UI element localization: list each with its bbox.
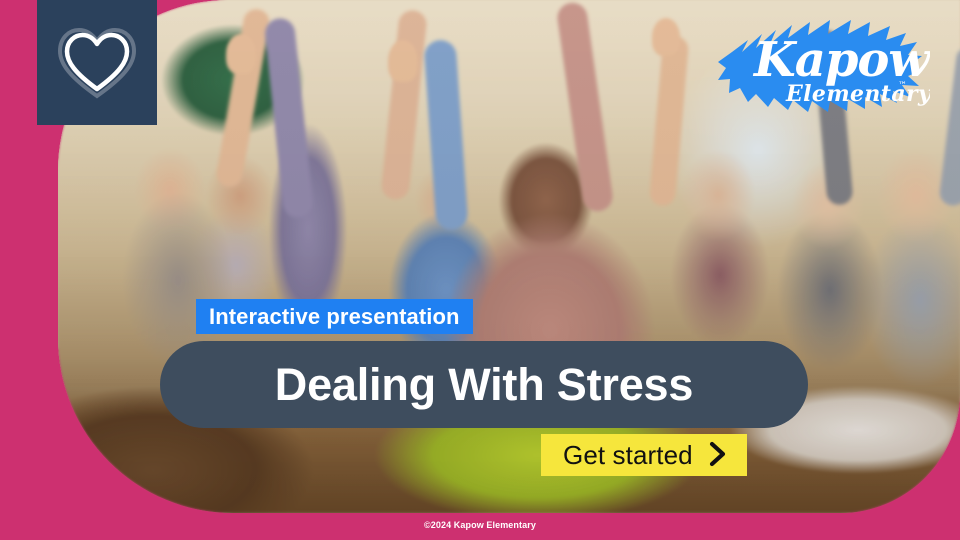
heart-icon	[54, 23, 140, 103]
svg-text:Kapow: Kapow	[752, 32, 930, 88]
get-started-button[interactable]: Get started	[541, 434, 747, 476]
kapow-elementary-logo: Kapow Elementary ™	[718, 8, 930, 126]
page-title: Dealing With Stress	[275, 362, 693, 407]
svg-text:Elementary: Elementary	[785, 81, 930, 107]
heart-badge	[37, 0, 157, 125]
footer: ©2024 Kapow Elementary	[0, 515, 960, 533]
copyright-text: ©2024 Kapow Elementary	[424, 520, 536, 530]
svg-text:™: ™	[898, 81, 907, 91]
get-started-label: Get started	[563, 442, 693, 468]
eyebrow-label: Interactive presentation	[209, 306, 460, 328]
chevron-right-icon	[707, 441, 729, 470]
title-pill: Dealing With Stress	[160, 341, 808, 428]
eyebrow-banner: Interactive presentation	[196, 299, 473, 334]
presentation-slide: Kapow Elementary ™ Interactive presentat…	[0, 0, 960, 540]
